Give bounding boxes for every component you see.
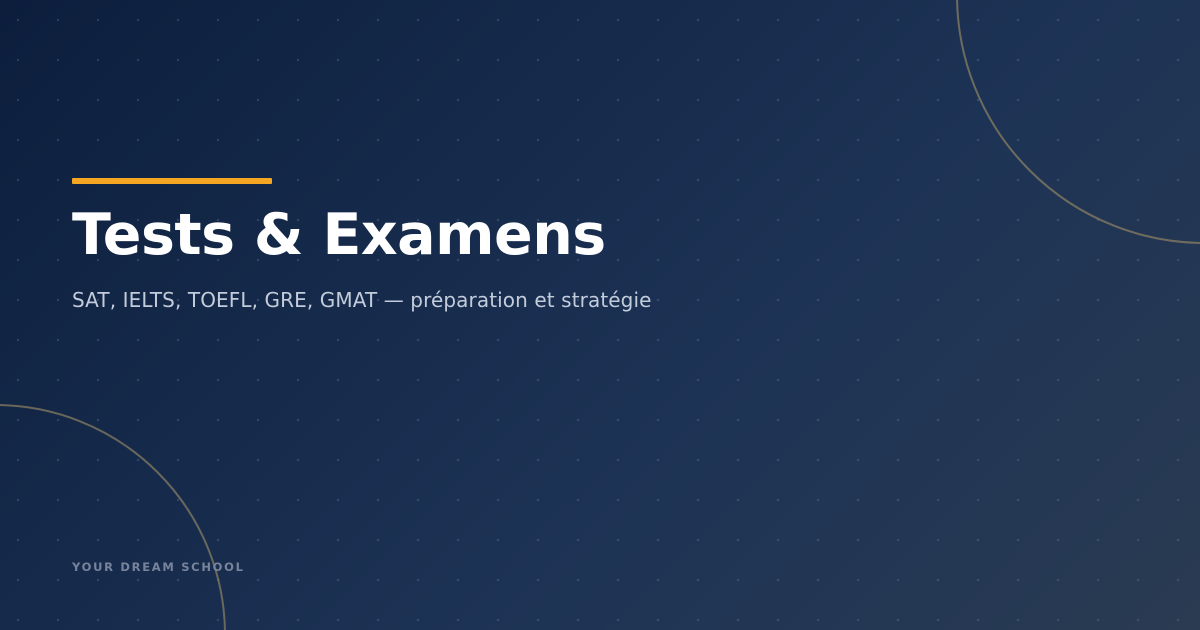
page-title: Tests & Examens — [72, 203, 606, 269]
page-subtitle: SAT, IELTS, TOEFL, GRE, GMAT — préparati… — [72, 286, 652, 314]
hero-banner: Tests & Examens SAT, IELTS, TOEFL, GRE, … — [0, 0, 1200, 630]
brand-footer-label: YOUR DREAM SCHOOL — [72, 560, 245, 574]
gold-accent-bar — [72, 178, 272, 184]
banner-content: Tests & Examens SAT, IELTS, TOEFL, GRE, … — [72, 0, 1128, 630]
